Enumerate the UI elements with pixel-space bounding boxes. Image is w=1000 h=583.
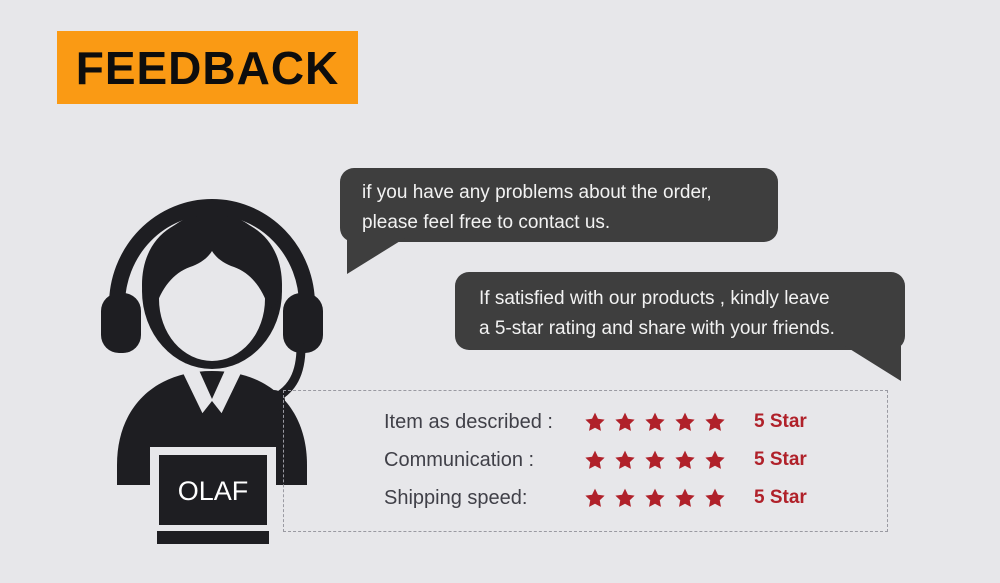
rating-label: Shipping speed:	[384, 487, 584, 510]
ratings-panel: Item as described : 5 Star Communication…	[283, 390, 888, 532]
speech-bubble-rating: If satisfied with our products , kindly …	[455, 272, 905, 350]
rating-value: 5 Star	[744, 487, 807, 509]
star-icon	[614, 449, 636, 471]
speech-bubble-rating-tail	[845, 346, 901, 381]
speech-bubble-support: if you have any problems about the order…	[340, 168, 778, 242]
star-icon	[644, 449, 666, 471]
rating-row-communication: Communication : 5 Star	[384, 441, 889, 479]
star-icon	[644, 411, 666, 433]
speech-bubble-rating-text: If satisfied with our products , kindly …	[479, 284, 887, 344]
rating-label: Item as described :	[384, 411, 584, 434]
rating-stars	[584, 449, 744, 471]
rating-row-shipping-speed: Shipping speed: 5 Star	[384, 479, 889, 517]
rating-row-item-as-described: Item as described : 5 Star	[384, 403, 889, 441]
rating-label: Communication :	[384, 449, 584, 472]
rating-value: 5 Star	[744, 411, 807, 433]
speech-bubble-support-tail	[347, 238, 405, 274]
star-icon	[644, 487, 666, 509]
feedback-banner-title: FEEDBACK	[76, 45, 340, 91]
ratings-list: Item as described : 5 Star Communication…	[384, 403, 889, 517]
star-icon	[674, 411, 696, 433]
star-icon	[614, 487, 636, 509]
star-icon	[704, 411, 726, 433]
star-icon	[704, 449, 726, 471]
star-icon	[674, 487, 696, 509]
star-icon	[674, 449, 696, 471]
rating-stars	[584, 487, 744, 509]
star-icon	[584, 449, 606, 471]
star-icon	[584, 411, 606, 433]
speech-bubble-support-text: if you have any problems about the order…	[362, 178, 760, 238]
feedback-graphic: FEEDBACK if you have any problems about …	[0, 0, 1000, 583]
star-icon	[704, 487, 726, 509]
feedback-banner: FEEDBACK	[57, 31, 358, 104]
star-icon	[584, 487, 606, 509]
laptop-label: OLAF	[178, 476, 249, 506]
star-icon	[614, 411, 636, 433]
rating-stars	[584, 411, 744, 433]
rating-value: 5 Star	[744, 449, 807, 471]
